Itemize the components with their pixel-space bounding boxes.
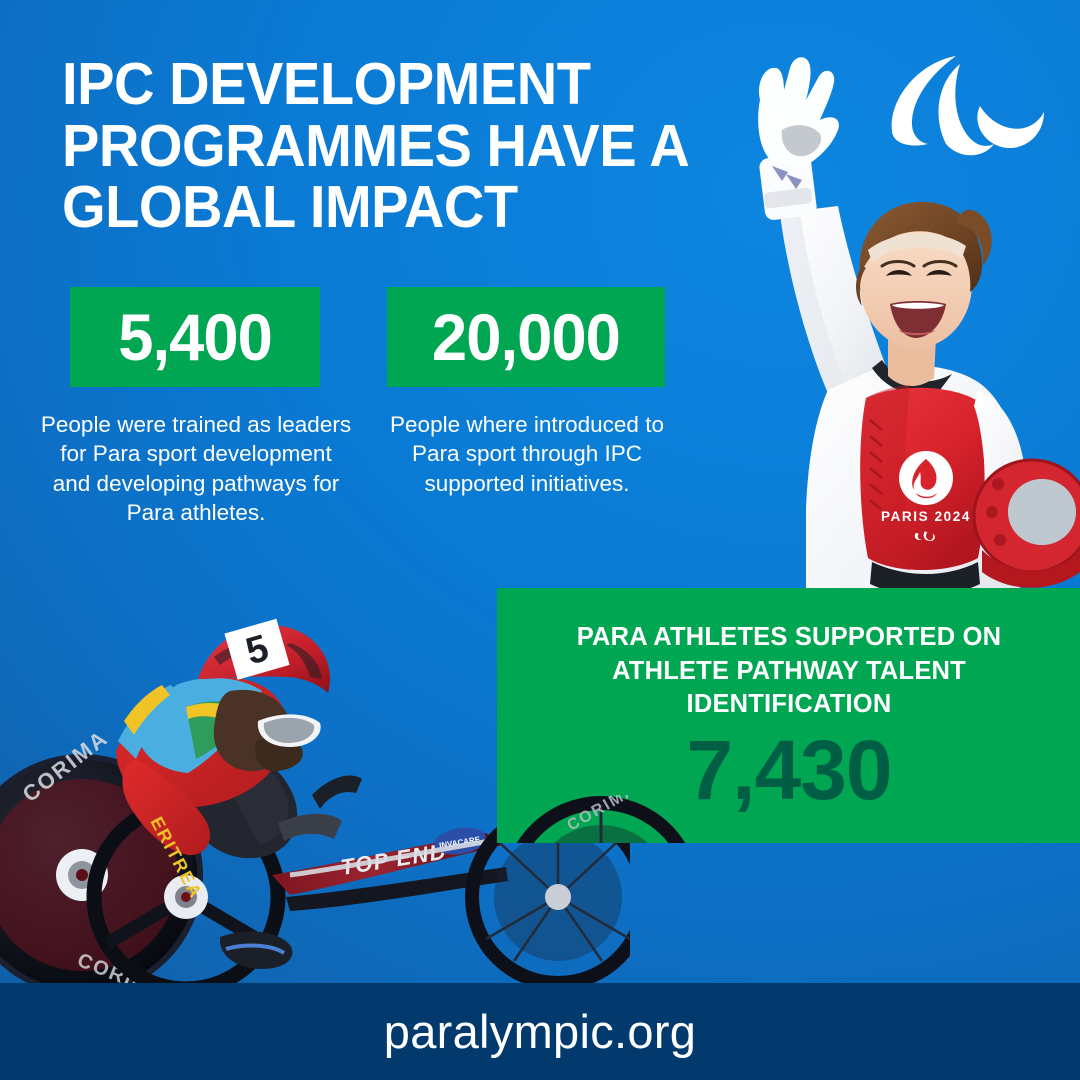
headline-line-3: GLOBAL IMPACT: [62, 177, 727, 239]
headline-line-1: IPC DEVELOPMENT: [62, 54, 727, 116]
infographic-canvas: PARIS 2024: [0, 0, 1080, 1080]
stat-caption-1: People were trained as leaders for Para …: [40, 410, 352, 527]
highlight-panel-title: PARA ATHLETES SUPPORTED ON ATHLETE PATHW…: [549, 621, 1029, 722]
headline-line-2: PROGRAMMES HAVE A: [62, 116, 727, 178]
stat-box-1: 5,400: [70, 287, 320, 387]
website-url[interactable]: paralympic.org: [384, 1004, 696, 1059]
stat-value-1: 5,400: [118, 304, 272, 370]
footer-bar: paralympic.org: [0, 983, 1080, 1080]
stat-caption-2: People where introduced to Para sport th…: [368, 410, 686, 498]
page-title: IPC DEVELOPMENT PROGRAMMES HAVE A GLOBAL…: [62, 54, 727, 239]
stat-box-2: 20,000: [387, 287, 665, 387]
stat-value-2: 20,000: [432, 304, 620, 370]
svg-text:PARIS 2024: PARIS 2024: [881, 509, 971, 524]
wheel-overlap-decor: CORIMA: [497, 795, 727, 843]
agitos-logo: [884, 46, 1052, 164]
